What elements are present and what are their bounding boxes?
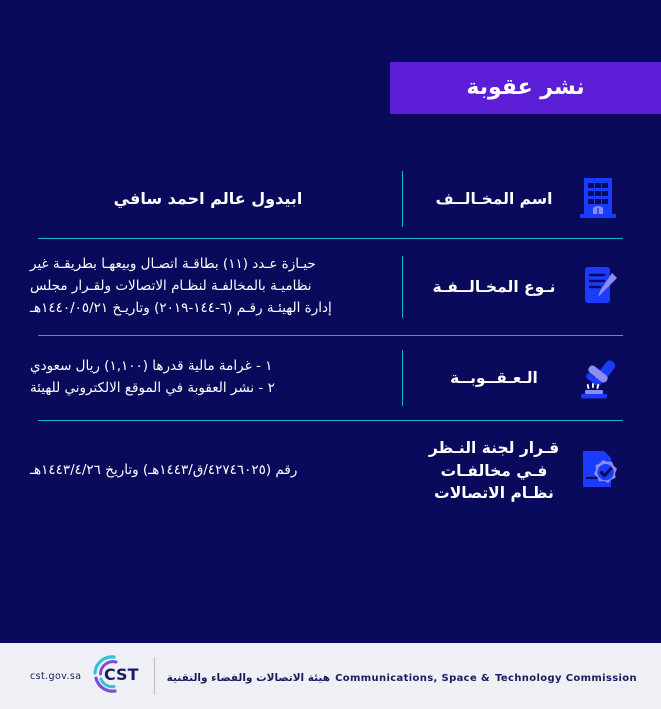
row-value-violator-name: ابيدول عالم احمد سافي	[24, 186, 392, 212]
cst-logo-text: CST	[104, 665, 139, 684]
page-title: نشر عقوبة	[466, 77, 584, 99]
row-value-violation-type: حيـازة عـدد (١١) بطاقـة اتصـال وبيعهـا ب…	[24, 254, 392, 320]
brand-name: هيئة الاتصالات والفضاء والتقنية Communic…	[167, 665, 637, 686]
row-separator-vertical	[402, 350, 403, 406]
cst-logo-icon: CST	[84, 653, 142, 699]
document-verified-icon	[565, 445, 631, 497]
table-row-committee-decision: قـرار لجنة النـظر فـي مخالفـات نظـام الا…	[0, 421, 661, 521]
table-row-violation-type: نـوع المخـالــفـة حيـازة عـدد (١١) بطاقـ…	[0, 239, 661, 335]
row-separator-vertical	[402, 171, 403, 227]
row-label-violation-type: نـوع المخـالــفـة	[417, 276, 565, 298]
footer-website-url[interactable]: cst.gov.sa	[30, 671, 81, 682]
row-label-committee-decision: قـرار لجنة النـظر فـي مخالفـات نظـام الا…	[417, 437, 565, 504]
document-pen-icon	[565, 262, 631, 312]
building-icon	[565, 175, 631, 223]
brand-divider	[154, 657, 155, 695]
brand-lockup: CST هيئة الاتصالات والفضاء والتقنية Comm…	[84, 653, 637, 699]
brand-name-english-line2: Technology Commission	[495, 673, 637, 684]
row-label-penalty: الـعـقــوبــة	[417, 367, 565, 389]
table-row-penalty: الـعـقــوبــة ١ - غرامة مالية قدرها (١,١…	[0, 336, 661, 420]
penalty-details-table: اسم المخـالــف ابيدول عالم احمد سافي	[0, 160, 661, 521]
header-zone: نشر عقوبة	[0, 0, 661, 136]
brand-name-arabic: هيئة الاتصالات والفضاء والتقنية	[167, 672, 330, 684]
row-separator-vertical	[402, 256, 403, 318]
header-banner: نشر عقوبة	[390, 62, 661, 114]
gavel-icon	[565, 353, 631, 403]
table-row-violator-name: اسم المخـالــف ابيدول عالم احمد سافي	[0, 160, 661, 238]
brand-name-english-line1: Communications, Space &	[335, 673, 490, 684]
footer: CST هيئة الاتصالات والفضاء والتقنية Comm…	[0, 643, 661, 709]
row-value-penalty: ١ - غرامة مالية قدرها (١,١٠٠) ريال سعودي…	[24, 356, 392, 400]
row-label-violator-name: اسم المخـالــف	[417, 188, 565, 210]
row-value-committee-decision: رقم (٤٢٧٤٦٠٢٥/ق/١٤٤٣هـ) وتاريخ ١٤٤٣/٤/٢٦…	[24, 460, 392, 482]
